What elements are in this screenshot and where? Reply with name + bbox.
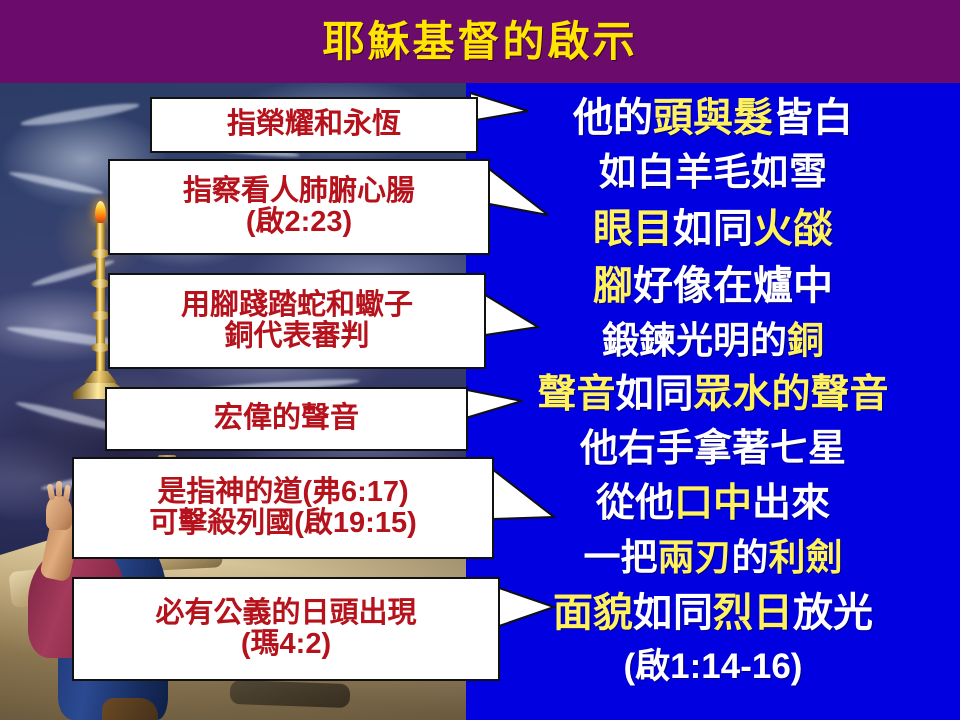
verse-line-2-seg-1: 如白羊毛如雪: [599, 154, 827, 192]
verse-line-6: 聲音如同眾水的聲音: [537, 367, 888, 422]
verse-line-1-seg-3: 皆白: [773, 98, 853, 138]
rock-shadow: [230, 680, 351, 708]
callout-box-5[interactable]: 是指神的道(弗6:17) 可擊殺列國(啟19:15): [72, 457, 494, 559]
callout-2-line-1: 指察看人肺腑心腸: [183, 176, 415, 207]
callout-5-line-2: 可擊殺列國(啟19:15): [149, 508, 417, 539]
figure-finger: [63, 485, 71, 502]
verse-line-5-seg-1: 鍛鍊光明的: [602, 322, 787, 359]
figure-foot: [102, 698, 158, 720]
verse-line-8-seg-3: 出來: [752, 484, 830, 523]
verse-line-1-seg-2: 頭與髮: [653, 98, 773, 138]
callout-4-tail: [462, 383, 524, 433]
verse-line-10-seg-1: 面貌: [553, 593, 633, 633]
verse-line-6-seg-3: 眾水的聲音: [694, 375, 889, 414]
verse-line-1-seg-1: 他的: [573, 98, 653, 138]
verse-line-7-seg-1: 他右手拿著七星: [580, 430, 846, 468]
callout-box-6[interactable]: 必有公義的日頭出現 (瑪4:2): [72, 577, 500, 681]
verse-line-2: 如白羊毛如雪: [599, 146, 827, 200]
callout-3-line-1: 用腳踐踏蛇和蠍子: [181, 290, 413, 321]
verse-line-5-seg-2: 銅: [787, 322, 824, 359]
lampstand-base-upper: [84, 371, 117, 383]
verse-line-3: 眼目如同火燄: [593, 200, 833, 257]
callout-2-tail: [484, 163, 550, 225]
verse-line-5: 鍛鍊光明的銅: [602, 314, 824, 367]
verse-line-9-seg-3: 的: [732, 539, 769, 576]
figure-finger: [47, 484, 56, 501]
callout-6-line-1: 必有公義的日頭出現: [155, 598, 416, 629]
verse-line-8-seg-2: 口中: [674, 484, 752, 523]
verse-line-11: (啟1:14-16): [624, 641, 803, 691]
verse-line-10: 面貌如同烈日放光: [553, 584, 873, 641]
verse-line-7: 他右手拿著七星: [580, 422, 846, 476]
verse-line-3-seg-1: 眼目: [593, 209, 673, 249]
verse-line-4: 腳好像在爐中: [593, 257, 833, 314]
verse-line-6-seg-1: 聲音: [537, 375, 615, 414]
callout-1-line-1: 指榮耀和永恆: [227, 109, 401, 140]
verse-line-3-seg-3: 火燄: [753, 209, 833, 249]
callout-4-line-1: 宏偉的聲音: [214, 403, 359, 434]
verse-line-9-seg-4: 利劍: [769, 539, 843, 576]
page-title: 耶穌基督的啟示: [322, 21, 637, 63]
verse-line-11-seg-1: (啟1:14-16): [624, 649, 803, 684]
verse-line-8: 從他口中出來: [596, 476, 830, 531]
callout-5-line-1: 是指神的道(弗6:17): [157, 477, 408, 508]
callout-2-line-2: (啟2:23): [246, 207, 352, 238]
verse-line-1: 他的頭與髮皆白: [573, 89, 853, 146]
verse-line-6-seg-2: 如同: [615, 375, 693, 414]
callout-6-tail: [496, 583, 556, 639]
callout-box-1[interactable]: 指榮耀和永恆: [150, 97, 478, 153]
verse-line-9-seg-2: 兩刃: [658, 539, 732, 576]
callout-1-tail: [470, 91, 530, 137]
verse-line-4-seg-2: 好像在爐中: [633, 266, 833, 306]
verse-line-10-seg-4: 放光: [793, 593, 873, 633]
verse-line-10-seg-2: 如同: [633, 593, 713, 633]
callout-3-line-2: 銅代表審判: [224, 321, 369, 352]
cloud-streak: [20, 100, 140, 130]
figure-finger: [56, 481, 62, 497]
verse-line-8-seg-1: 從他: [596, 484, 674, 523]
verse-line-9: 一把兩刃的利劍: [584, 531, 843, 584]
slide-body: 指榮耀和永恆 指察看人肺腑心腸 (啟2:23) 用腳踐踏蛇和蠍子 銅代表審判 宏…: [0, 83, 960, 720]
verse-line-3-seg-2: 如同: [673, 209, 753, 249]
flame-icon: [95, 201, 106, 223]
verse-line-10-seg-3: 烈日: [713, 593, 793, 633]
callout-box-4[interactable]: 宏偉的聲音: [105, 387, 468, 451]
figure-hand: [46, 496, 72, 530]
title-bar: 耶穌基督的啟示: [0, 0, 960, 83]
callout-5-tail: [492, 463, 556, 535]
verse-line-9-seg-1: 一把: [584, 539, 658, 576]
callout-box-2[interactable]: 指察看人肺腑心腸 (啟2:23): [108, 159, 490, 255]
callout-6-line-2: (瑪4:2): [241, 629, 331, 660]
slide: 耶穌基督的啟示: [0, 0, 960, 720]
callout-box-3[interactable]: 用腳踐踏蛇和蠍子 銅代表審判: [108, 273, 486, 369]
verse-line-4-seg-1: 腳: [593, 266, 633, 306]
